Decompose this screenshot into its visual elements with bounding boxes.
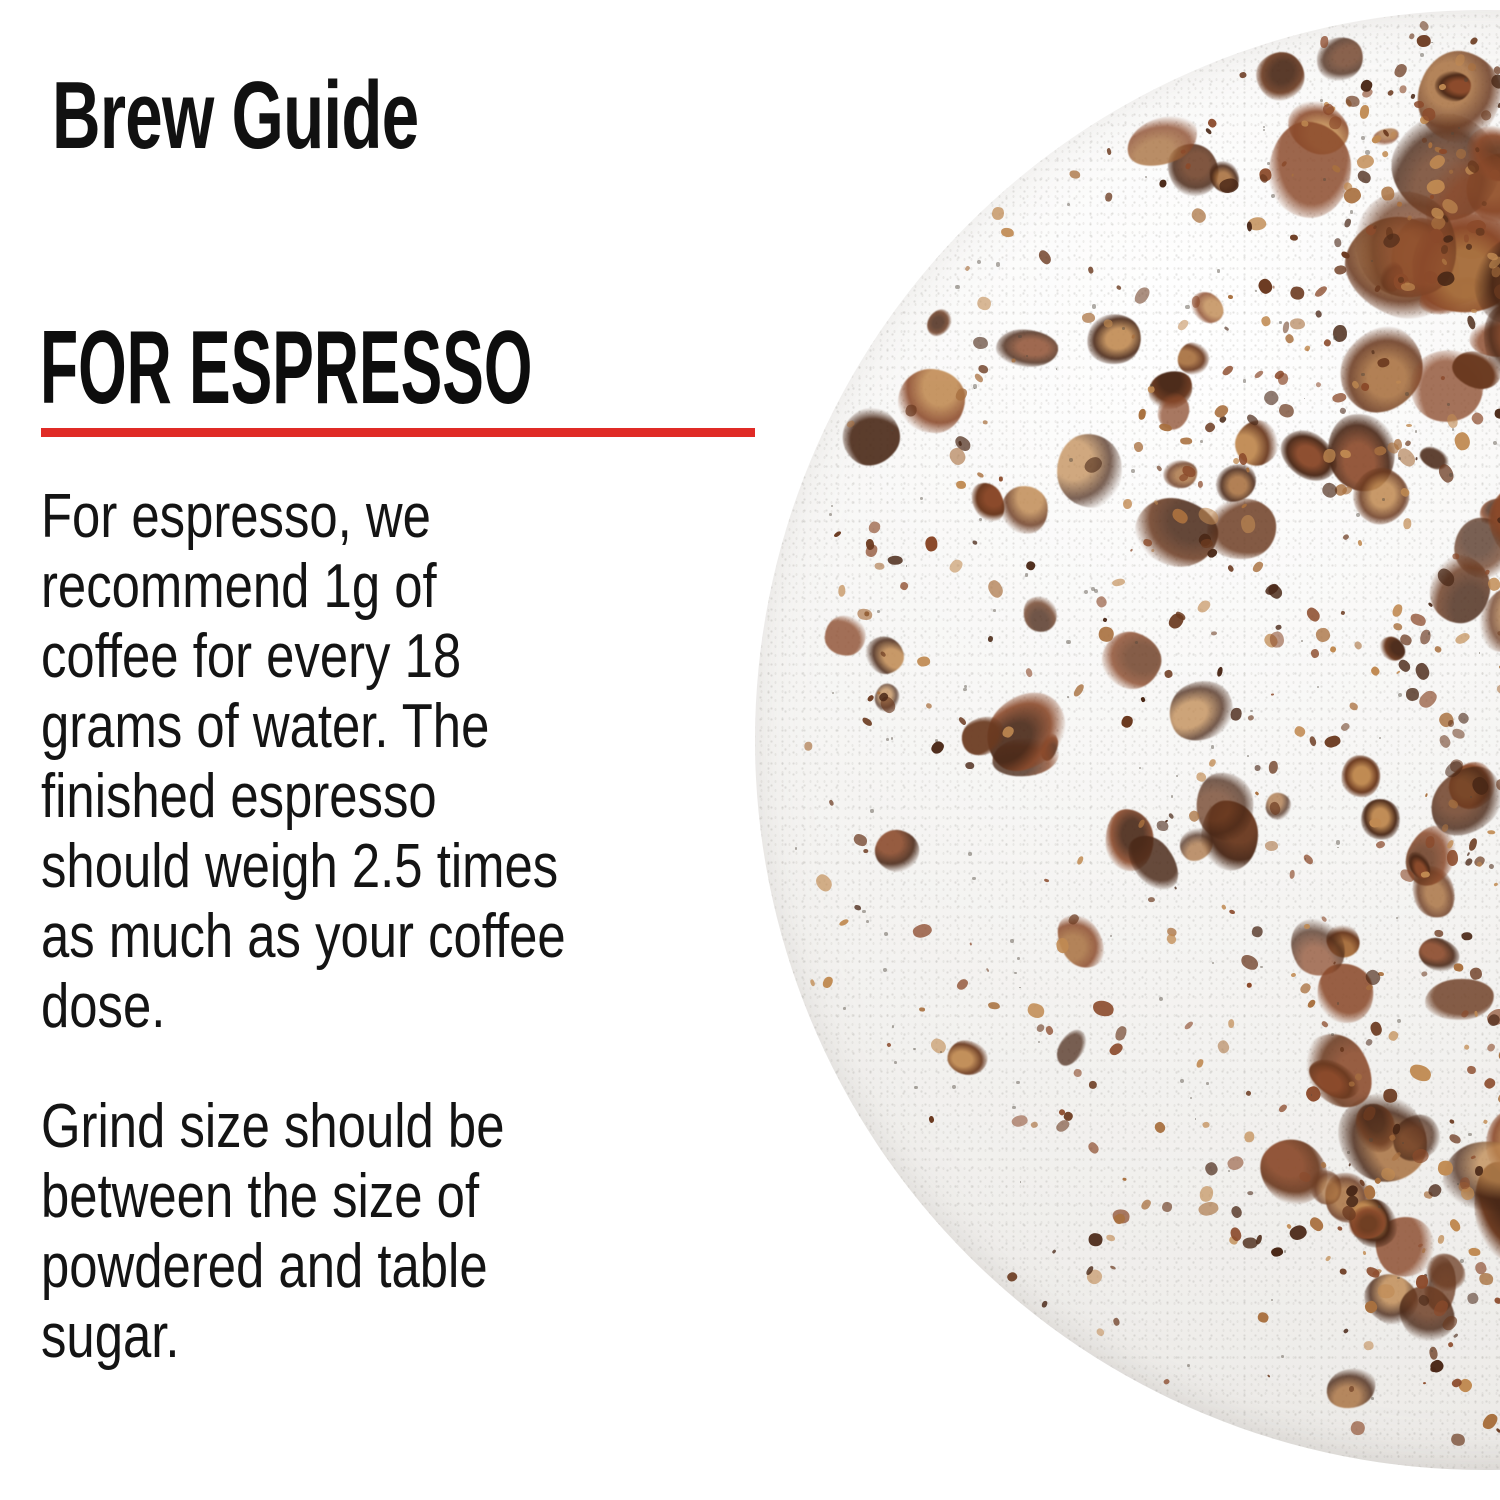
body-paragraph-grind-size: Grind size should be between the size of… bbox=[41, 1092, 566, 1372]
plate-rim bbox=[755, 10, 1500, 1470]
brew-guide-card: Brew Guide FOR ESPRESSO For espresso, we… bbox=[0, 0, 1500, 1500]
section-heading: FOR ESPRESSO bbox=[40, 316, 532, 420]
section-underline-rule bbox=[41, 428, 755, 437]
text-column: Brew Guide FOR ESPRESSO For espresso, we… bbox=[0, 0, 750, 1500]
body-paragraph-ratio: For espresso, we recommend 1g of coffee … bbox=[41, 482, 566, 1042]
white-plate bbox=[755, 10, 1500, 1470]
page-title: Brew Guide bbox=[52, 68, 418, 164]
coffee-grounds-photo bbox=[750, 0, 1500, 1500]
